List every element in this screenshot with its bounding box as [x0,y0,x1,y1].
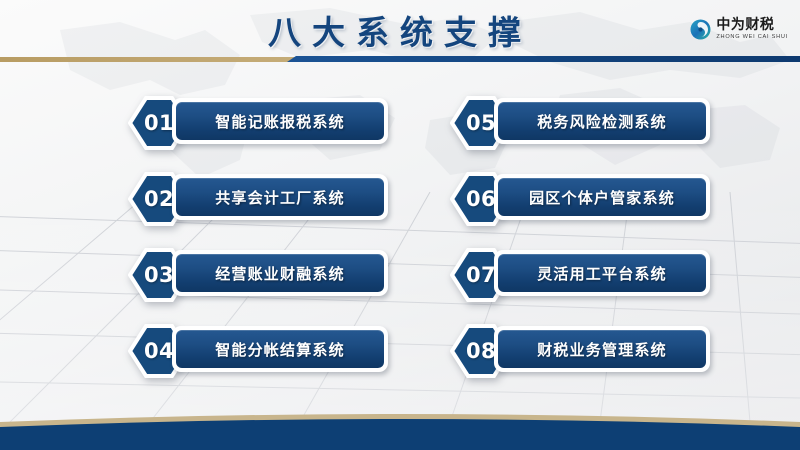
systems-grid: 01 智能记账报税系统 02 共享会计工厂系统 [0,96,800,396]
system-label-bar: 税务风险检测系统 [498,102,706,140]
systems-column-left: 01 智能记账报税系统 02 共享会计工厂系统 [128,96,388,374]
system-label-bar: 财税业务管理系统 [498,330,706,368]
footer-band [0,414,800,450]
system-label-plate[interactable]: 智能记账报税系统 [172,98,388,144]
system-label-plate[interactable]: 经营账业财融系统 [172,250,388,296]
system-label: 灵活用工平台系统 [537,263,667,284]
system-label-bar: 灵活用工平台系统 [498,254,706,292]
brand-logo: 中为财税 ZHONG WEI CAI SHUI [690,18,788,40]
system-item[interactable]: 07 灵活用工平台系统 [450,248,710,298]
brand-text: 中为财税 ZHONG WEI CAI SHUI [716,18,788,40]
system-label: 共享会计工厂系统 [215,187,345,208]
system-label: 智能记账报税系统 [215,111,345,132]
brand-name-cn: 中为财税 [716,18,788,32]
system-item[interactable]: 08 财税业务管理系统 [450,324,710,374]
system-label-plate[interactable]: 智能分帐结算系统 [172,326,388,372]
system-label: 财税业务管理系统 [537,339,667,360]
divider-blue-segment [296,56,800,62]
system-item[interactable]: 05 税务风险检测系统 [450,96,710,146]
system-item[interactable]: 02 共享会计工厂系统 [128,172,388,222]
system-item[interactable]: 06 园区个体户管家系统 [450,172,710,222]
system-label: 税务风险检测系统 [537,111,667,132]
system-label-plate[interactable]: 园区个体户管家系统 [494,174,710,220]
header: 八大系统支撑 [0,0,800,62]
slide-root: 八大系统支撑 [0,0,800,450]
system-label-bar: 经营账业财融系统 [176,254,384,292]
system-item[interactable]: 01 智能记账报税系统 [128,96,388,146]
system-label-plate[interactable]: 共享会计工厂系统 [172,174,388,220]
system-item[interactable]: 04 智能分帐结算系统 [128,324,388,374]
system-label-bar: 智能记账报税系统 [176,102,384,140]
brand-name-en: ZHONG WEI CAI SHUI [716,35,788,41]
system-label: 智能分帐结算系统 [215,339,345,360]
system-label-bar: 共享会计工厂系统 [176,178,384,216]
page-title: 八大系统支撑 [0,6,800,54]
header-divider [0,56,800,63]
system-label-plate[interactable]: 灵活用工平台系统 [494,250,710,296]
system-label-plate[interactable]: 税务风险检测系统 [494,98,710,144]
divider-gold-segment [0,57,296,62]
swirl-circle-icon [690,19,711,40]
system-label: 经营账业财融系统 [215,263,345,284]
system-label-bar: 园区个体户管家系统 [498,178,706,216]
system-label-plate[interactable]: 财税业务管理系统 [494,326,710,372]
system-label-bar: 智能分帐结算系统 [176,330,384,368]
system-label: 园区个体户管家系统 [529,187,675,208]
system-item[interactable]: 03 经营账业财融系统 [128,248,388,298]
systems-column-right: 05 税务风险检测系统 06 园区个体户管家系统 [450,96,710,374]
